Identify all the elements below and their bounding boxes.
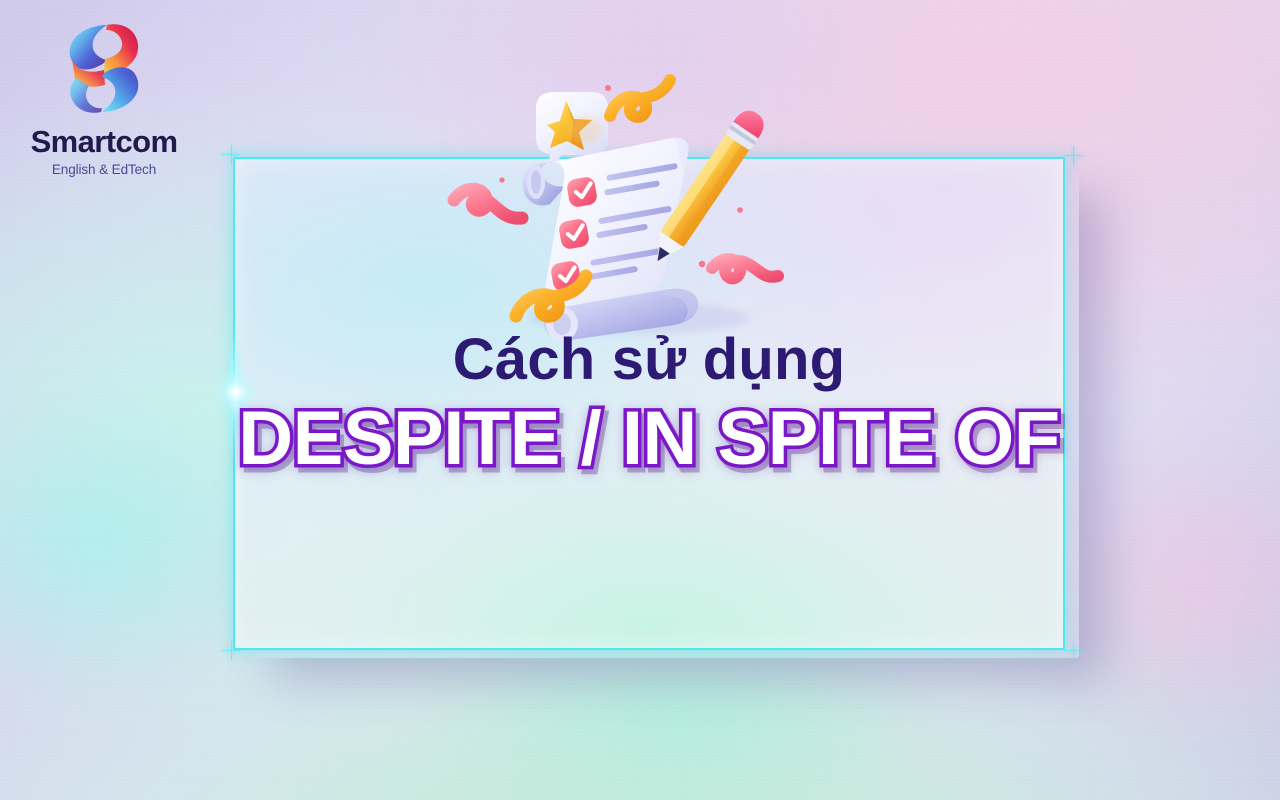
squiggle-pink-left [454,189,522,218]
slide-subtitle: Cách sử dụng [233,330,1065,391]
dot-decoration-2 [605,85,611,91]
sparkle-icon-bottom-right [1064,641,1083,660]
title-block: Cách sử dụng DESPITE / IN SPITE OF [233,330,1065,477]
dot-decoration-3 [699,261,705,267]
dot-decoration-4 [737,207,743,213]
squiggle-orange-top [610,80,670,117]
smartcom-s-ribbon-logo-icon [49,16,159,122]
squiggle-pink-right [712,259,778,278]
checklist-illustration [440,68,780,344]
brand-tagline: English & EdTech [14,162,194,177]
sparkle-icon-bottom-left [222,641,241,660]
brand-name: Smartcom [14,126,194,157]
sparkle-icon-top-right [1064,146,1083,165]
slide-title: DESPITE / IN SPITE OF [233,401,1065,477]
brand-logo: Smartcom English & EdTech [14,16,194,177]
dot-decoration-1 [499,177,504,182]
scroll-top-roll [522,162,566,206]
slide-canvas: Smartcom English & EdTech [0,0,1280,800]
sparkle-icon-top-left [222,145,241,164]
